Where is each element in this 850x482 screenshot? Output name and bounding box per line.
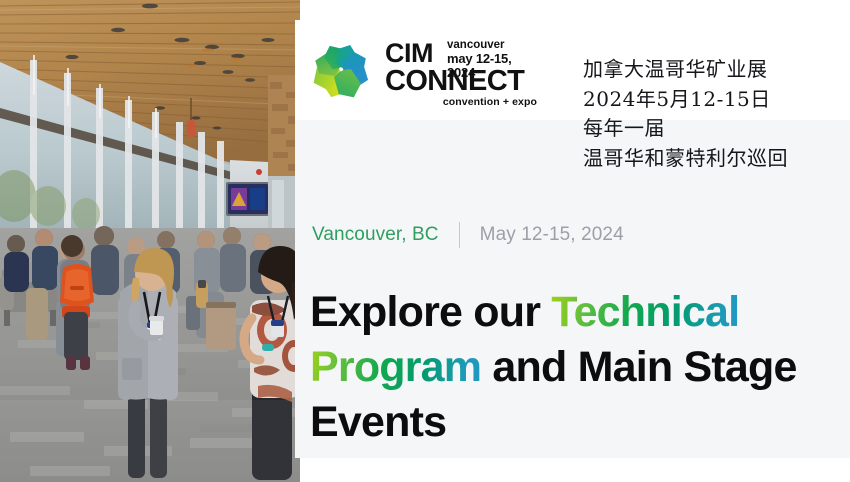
meta-divider (459, 222, 460, 248)
event-meta-row: Vancouver, BC May 12-15, 2024 (312, 220, 624, 250)
chinese-line-4: 温哥华和蒙特利尔巡回 (583, 144, 845, 174)
conference-networking-photo (0, 0, 300, 482)
headline-accent-program: Program (310, 343, 481, 391)
chinese-line-3: 每年一届 (583, 114, 845, 144)
event-location: Vancouver, BC (312, 224, 439, 246)
logo-connect-text: CONNECT (385, 67, 524, 96)
page-title: Explore our Technical Program and Main S… (310, 285, 850, 450)
headline-part-1: Explore our (310, 288, 551, 336)
logo-tagline-text: convention + expo (385, 96, 537, 108)
headline-accent-technical: Technical (551, 288, 739, 336)
cim-connect-logo[interactable]: CIM vancouver may 12-15, 2024 CONNECT co… (305, 28, 545, 112)
cim-connect-wordmark: CIM vancouver may 12-15, 2024 CONNECT co… (385, 34, 537, 106)
event-date: May 12-15, 2024 (480, 224, 624, 246)
chinese-event-summary: 加拿大温哥华矿业展 2024年5月12-15日 每年一届 温哥华和蒙特利尔巡回 (583, 55, 845, 173)
chinese-line-2: 2024年5月12-15日 (583, 85, 845, 115)
chinese-line-1: 加拿大温哥华矿业展 (583, 55, 845, 85)
logo-cim-text: CIM (385, 40, 433, 67)
promo-banner: CIM vancouver may 12-15, 2024 CONNECT co… (0, 0, 850, 482)
cim-connect-petal-mark-icon (305, 34, 377, 106)
